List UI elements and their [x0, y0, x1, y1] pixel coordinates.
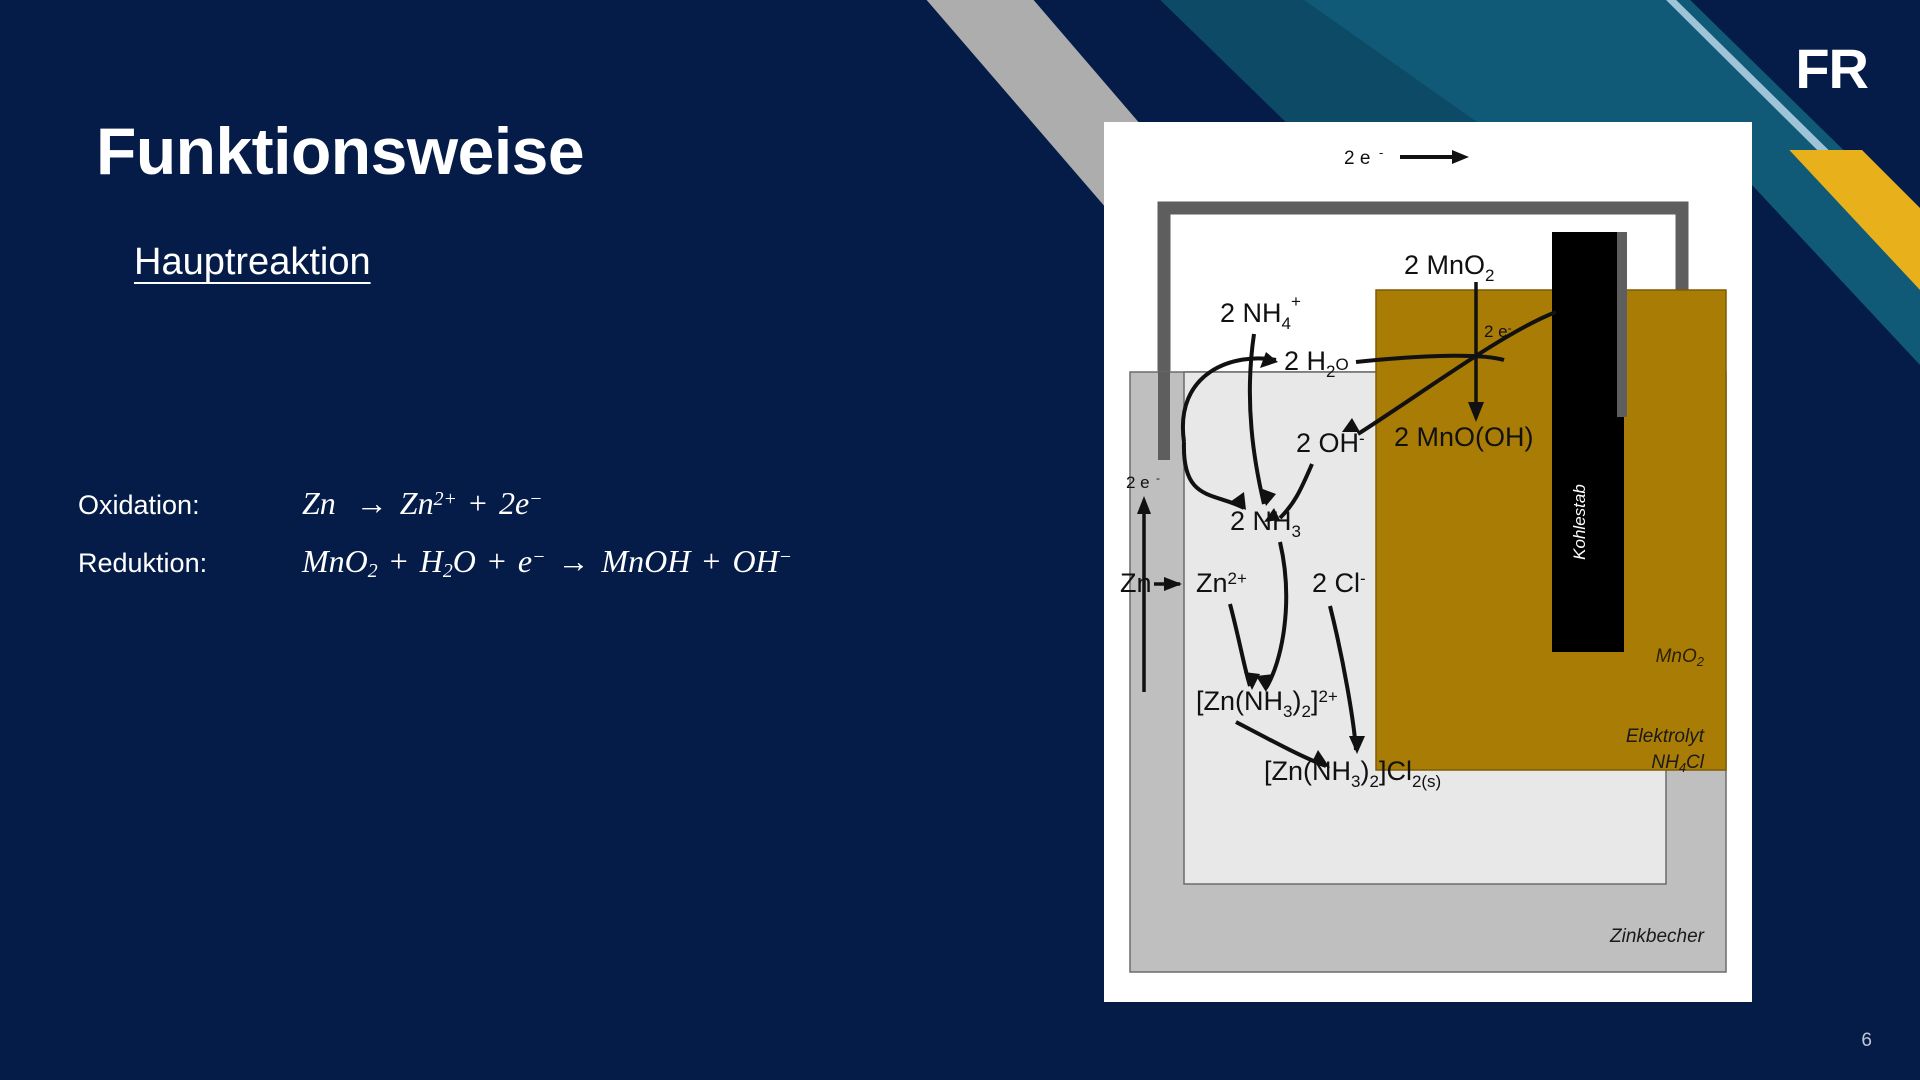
brand-logo: FR [1795, 36, 1868, 101]
equation-label-reduktion: Reduktion: [78, 548, 302, 579]
svg-text:2 e: 2 e [1344, 148, 1370, 169]
equation-row-reduktion: Reduktion: MnO2 + H2O + e− → MnOH + OH− [78, 543, 898, 601]
label-kohlestab: Kohlestab [1570, 484, 1589, 560]
caption-zinkbecher: Zinkbecher [1609, 926, 1705, 947]
equation-body-oxidation: Zn → Zn2+ + 2e− [302, 485, 543, 522]
manganese-dioxide-block [1376, 290, 1726, 770]
svg-text:2 e: 2 e [1126, 473, 1150, 492]
slide: FR Funktionsweise Hauptreaktion Oxidatio… [0, 0, 1920, 1080]
species-nh3: 2 NH3 [1230, 506, 1301, 541]
page-title: Funktionsweise [96, 118, 584, 184]
carbon-rod-wire-contact [1617, 232, 1627, 417]
species-cl: 2 Cl- [1312, 568, 1366, 598]
caption-elektrolyt-1: Elektrolyt [1626, 726, 1705, 747]
equation-block: Oxidation: Zn → Zn2+ + 2e− Reduktion: Mn… [78, 485, 898, 601]
svg-text:-: - [1379, 145, 1383, 160]
zinc-cup-wire-contact [1158, 372, 1170, 460]
species-zn-nh3-complex: [Zn(NH3)2]2+ [1196, 686, 1338, 721]
section-subtitle: Hauptreaktion [134, 243, 371, 281]
cell-diagram-figure: 2 e - Kohlestab [1104, 122, 1752, 1002]
page-number: 6 [1861, 1030, 1872, 1052]
species-oh: 2 OH- [1296, 428, 1365, 458]
species-zn-metal: Zn [1120, 568, 1152, 598]
species-mno2: 2 MnO2 [1404, 250, 1495, 285]
caption-elektrolyt-2: NH4Cl [1651, 752, 1704, 775]
equation-row-oxidation: Oxidation: Zn → Zn2+ + 2e− [78, 485, 898, 543]
carbon-rod [1552, 232, 1624, 652]
svg-text:-: - [1156, 471, 1160, 485]
equation-body-reduktion: MnO2 + H2O + e− → MnOH + OH− [302, 543, 792, 583]
equation-label-oxidation: Oxidation: [78, 490, 302, 521]
species-mnooh: 2 MnO(OH) [1394, 422, 1534, 452]
